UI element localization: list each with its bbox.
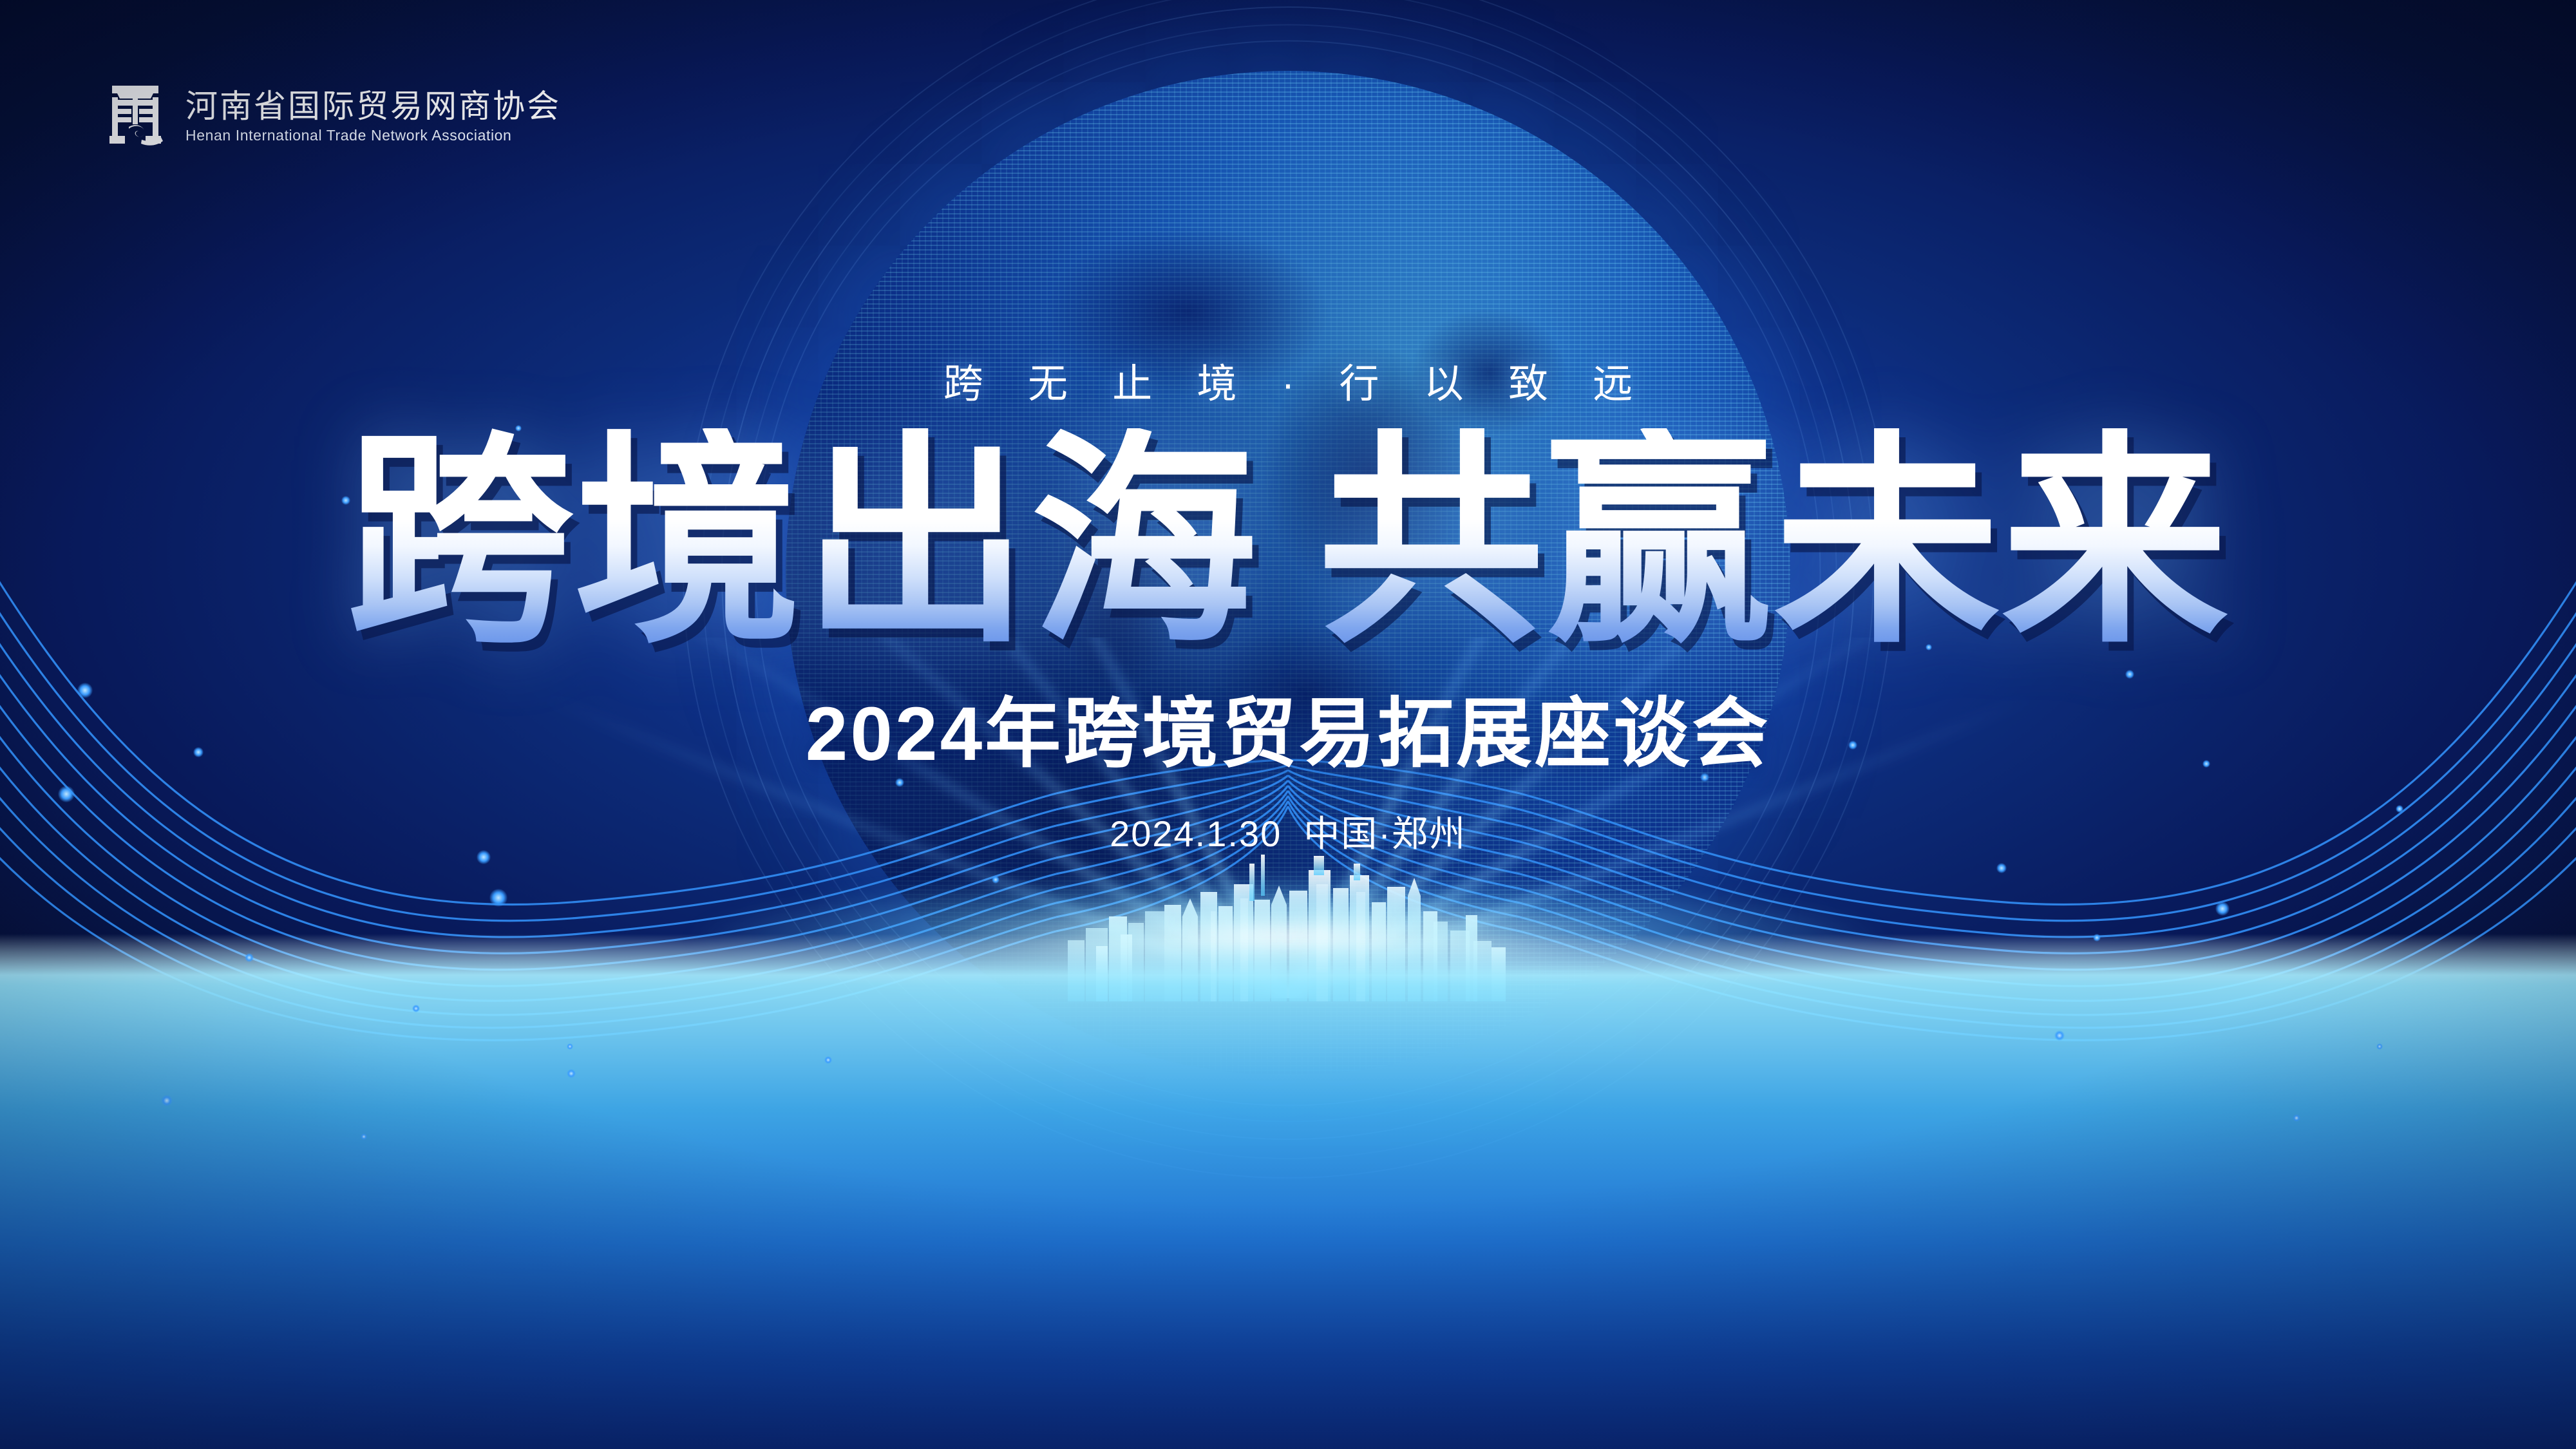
logo-text-block: 河南省国际贸易网商协会 Henan International Trade Ne…: [185, 90, 561, 144]
poster-canvas: 河南省国际贸易网商协会 Henan International Trade Ne…: [0, 0, 2576, 1449]
logo-name-cn: 河南省国际贸易网商协会: [185, 90, 561, 124]
logo-name-en: Henan International Trade Network Associ…: [185, 128, 561, 144]
henan-seal-logo-icon: [103, 80, 167, 153]
association-logo[interactable]: 河南省国际贸易网商协会 Henan International Trade Ne…: [103, 80, 561, 153]
light-rays: [0, 908, 2576, 1449]
